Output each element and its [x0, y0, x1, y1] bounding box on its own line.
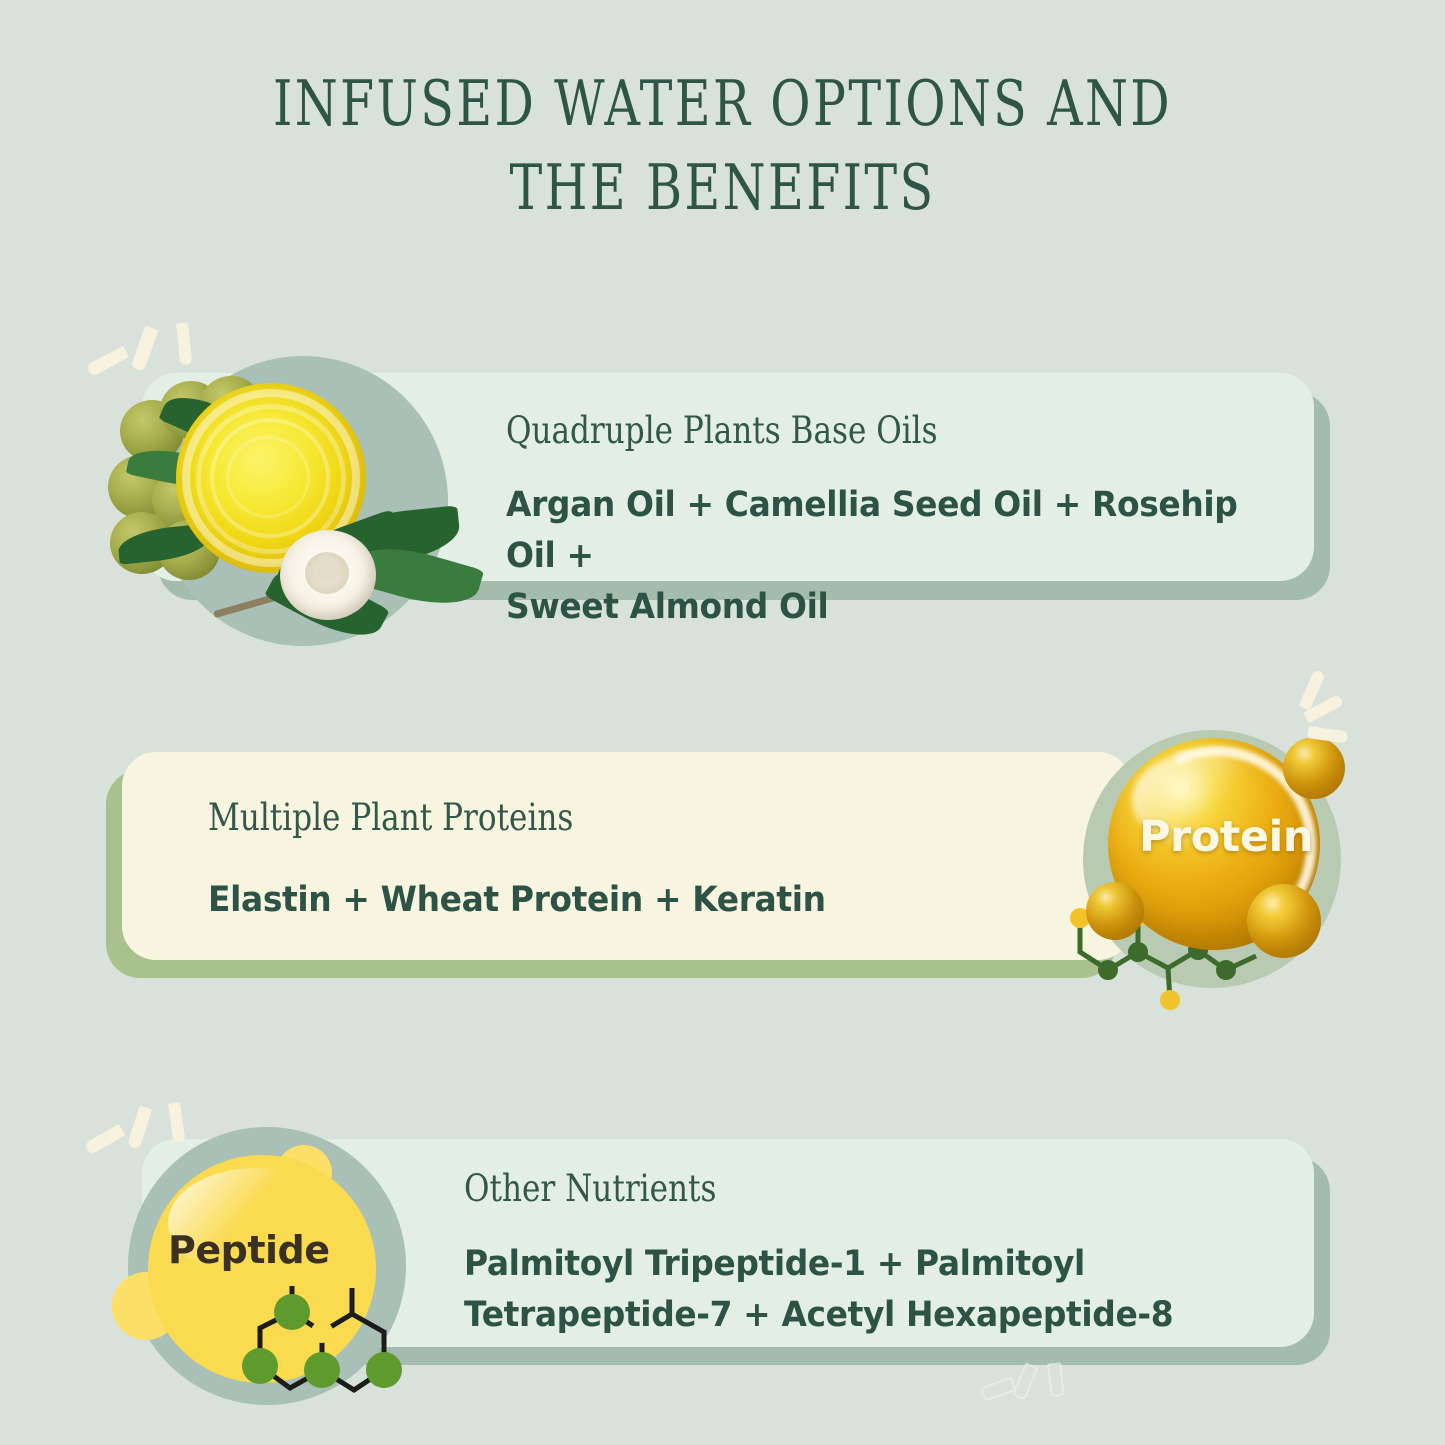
card-proteins-heading: Multiple Plant Proteins: [208, 795, 897, 840]
card-nutrients-body-line-1: Palmitoyl Tripeptide-1 + Palmitoyl: [464, 1239, 1235, 1290]
card-proteins-body-line-1: Elastin + Wheat Protein + Keratin: [208, 875, 979, 926]
sparkle-ray: [130, 326, 158, 372]
protein-droplet-satellite: [1247, 884, 1321, 958]
card-nutrients-heading: Other Nutrients: [464, 1166, 1153, 1211]
card-base-oils-heading: Quadruple Plants Base Oils: [506, 408, 1178, 453]
sparkle-ray: [84, 1124, 125, 1155]
card-base-oils-body-line-2: Sweet Almond Oil: [506, 582, 1258, 633]
sparkle-ray-outline: [979, 1376, 1016, 1402]
sparkle-ray: [176, 322, 192, 365]
card-base-oils-body-line-1: Argan Oil + Camellia Seed Oil + Rosehip …: [506, 480, 1258, 582]
sparkle-ray-outline: [1047, 1362, 1064, 1397]
sparkle-ray: [86, 346, 129, 377]
page-title-line-1: INFUSED WATER OPTIONS AND: [159, 62, 1286, 146]
card-nutrients-body-line-2: Tetrapeptide-7 + Acetyl Hexapeptide-8: [464, 1290, 1235, 1341]
protein-droplet-satellite: [1283, 737, 1345, 799]
peptide-molecule-diagram: [244, 1270, 474, 1420]
oil-bowl-ring: [226, 436, 310, 518]
camellia-flower-center: [316, 562, 338, 583]
card-nutrients-text: Other Nutrients Palmitoyl Tripeptide-1 +…: [464, 1166, 1284, 1341]
page-title: INFUSED WATER OPTIONS AND THE BENEFITS: [0, 62, 1445, 230]
peptide-circle-label: Peptide: [168, 1228, 330, 1272]
sparkle-ray: [127, 1105, 152, 1149]
sparkle-ray: [168, 1102, 185, 1143]
protein-droplet-label: Protein: [1139, 812, 1313, 862]
card-proteins-text: Multiple Plant Proteins Elastin + Wheat …: [208, 795, 1028, 926]
page-title-line-2: THE BENEFITS: [159, 146, 1286, 230]
protein-droplet-satellite: [1086, 882, 1144, 940]
card-base-oils-text: Quadruple Plants Base Oils Argan Oil + C…: [506, 408, 1306, 633]
infographic-page: INFUSED WATER OPTIONS AND THE BENEFITS Q…: [0, 0, 1445, 1445]
sparkle-ray-outline: [1012, 1362, 1038, 1401]
